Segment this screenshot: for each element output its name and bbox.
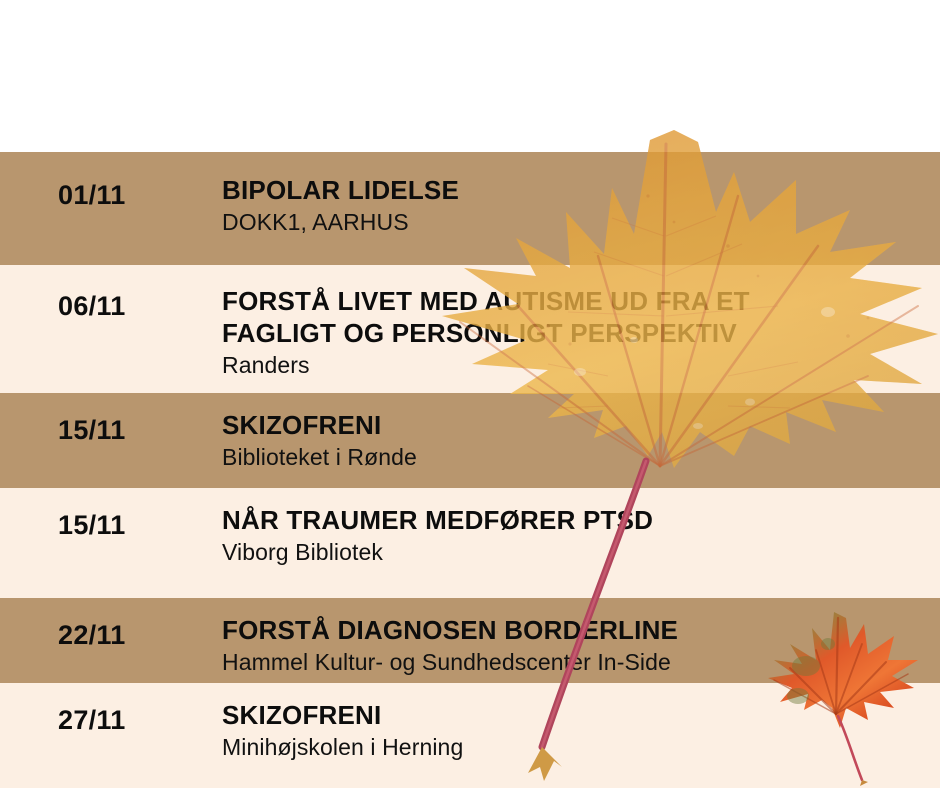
event-text-block: NÅR TRAUMER MEDFØRER PTSD Viborg Bibliot… [222, 504, 930, 566]
event-date: 01/11 [58, 180, 208, 211]
event-date: 22/11 [58, 620, 208, 651]
event-title: FORSTÅ LIVET MED AUTISME UD FRA ET FAGLI… [222, 285, 930, 349]
event-row: 27/11 SKIZOFRENI Minihøjskolen i Herning [0, 683, 940, 788]
event-text-block: SKIZOFRENI Minihøjskolen i Herning [222, 699, 930, 761]
event-date: 15/11 [58, 415, 208, 446]
event-title: SKIZOFRENI [222, 699, 930, 731]
event-row: 15/11 NÅR TRAUMER MEDFØRER PTSD Viborg B… [0, 488, 940, 598]
event-title: SKIZOFRENI [222, 409, 930, 441]
event-text-block: FORSTÅ LIVET MED AUTISME UD FRA ET FAGLI… [222, 285, 930, 379]
event-venue: Randers [222, 351, 930, 379]
event-row: 15/11 SKIZOFRENI Biblioteket i Rønde [0, 393, 940, 488]
event-row: 01/11 BIPOLAR LIDELSE DOKK1, AARHUS [0, 152, 940, 265]
poster-canvas: 01/11 BIPOLAR LIDELSE DOKK1, AARHUS 06/1… [0, 0, 940, 788]
event-date: 27/11 [58, 705, 208, 736]
event-text-block: SKIZOFRENI Biblioteket i Rønde [222, 409, 930, 471]
event-text-block: FORSTÅ DIAGNOSEN BORDERLINE Hammel Kultu… [222, 614, 930, 676]
event-title: BIPOLAR LIDELSE [222, 174, 930, 206]
event-date: 06/11 [58, 291, 208, 322]
event-row: 06/11 FORSTÅ LIVET MED AUTISME UD FRA ET… [0, 265, 940, 393]
event-venue: Hammel Kultur- og Sundhedscenter In-Side [222, 648, 930, 676]
event-title: NÅR TRAUMER MEDFØRER PTSD [222, 504, 930, 536]
title-banner: Temaaftener i november [0, 0, 940, 152]
event-venue: Minihøjskolen i Herning [222, 733, 930, 761]
event-list: 01/11 BIPOLAR LIDELSE DOKK1, AARHUS 06/1… [0, 152, 940, 788]
event-text-block: BIPOLAR LIDELSE DOKK1, AARHUS [222, 174, 930, 236]
event-date: 15/11 [58, 510, 208, 541]
event-title: FORSTÅ DIAGNOSEN BORDERLINE [222, 614, 930, 646]
event-venue: Biblioteket i Rønde [222, 443, 930, 471]
page-title: Temaaftener i november [46, 24, 846, 102]
event-venue: DOKK1, AARHUS [222, 208, 930, 236]
event-venue: Viborg Bibliotek [222, 538, 930, 566]
event-row: 22/11 FORSTÅ DIAGNOSEN BORDERLINE Hammel… [0, 598, 940, 683]
